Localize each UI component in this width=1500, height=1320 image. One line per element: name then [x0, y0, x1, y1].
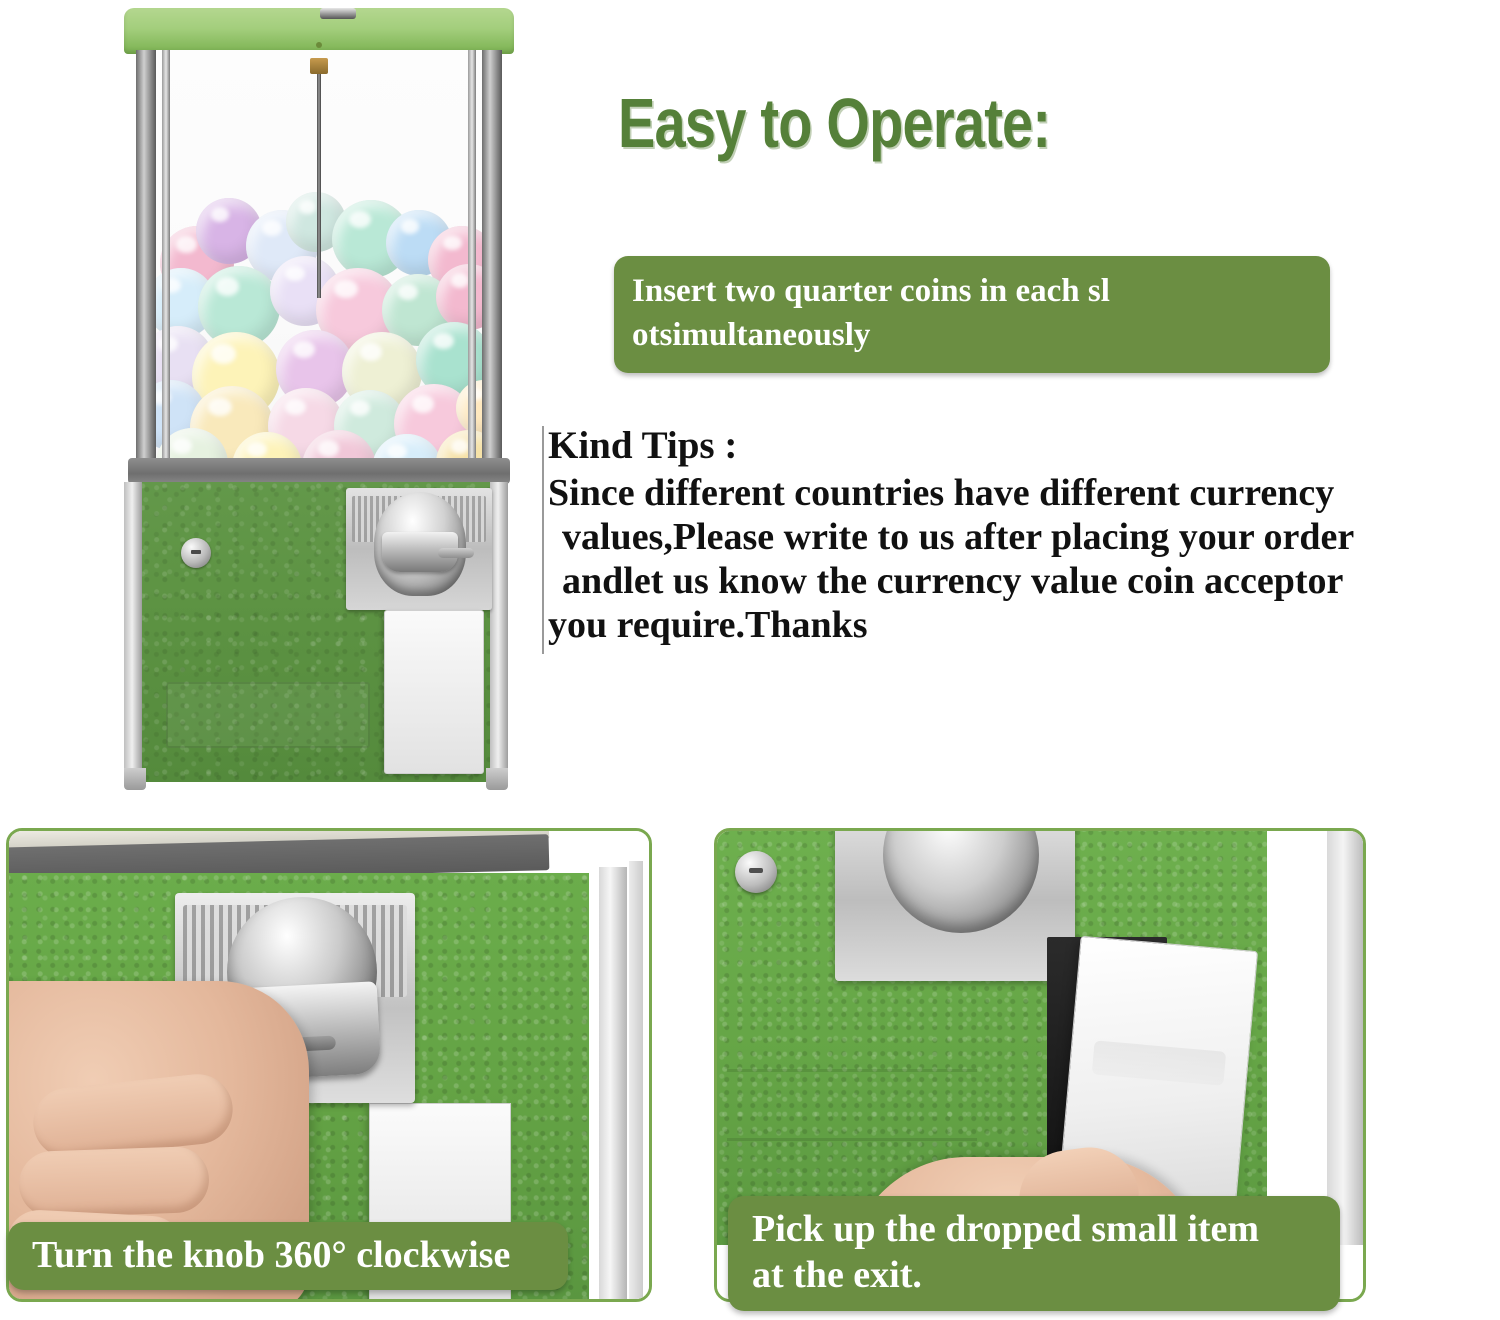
body-rail-left [124, 482, 142, 782]
kind-tips-body: Since different countries have different… [548, 471, 1498, 647]
callout-line-1: Insert two quarter coins in each sl [632, 270, 1312, 314]
knob-notch-icon [438, 548, 474, 558]
infographic-page: Easy to Operate: Insert two quarter coin… [0, 0, 1500, 1320]
rod-cap-icon [310, 58, 328, 74]
machine-foot-left [124, 768, 146, 790]
kind-tips-heading: Kind Tips : [548, 424, 1498, 469]
lock-icon [181, 538, 211, 568]
globe-center-rod [317, 60, 321, 298]
body-panel-seam [727, 1069, 977, 1141]
tips-line-4: you require.Thanks [548, 603, 1498, 647]
body-rail-right [1327, 831, 1363, 1245]
body-rail-outer [629, 861, 643, 1299]
body-rail-right [599, 867, 627, 1299]
caption-turn-knob: Turn the knob 360° clockwise [8, 1222, 568, 1290]
globe-corner-post-left [136, 50, 156, 462]
coin-knob-handle [382, 532, 458, 572]
body-rail-right [490, 482, 508, 782]
coin-mechanism-plate [346, 488, 492, 610]
machine-shelf [128, 458, 510, 484]
globe-inner-post-left [162, 50, 170, 462]
kind-tips-block: Kind Tips : Since different countries ha… [548, 424, 1498, 647]
lid-lock-handle-icon [320, 8, 356, 19]
page-title: Easy to Operate: [618, 88, 1050, 158]
globe-corner-post-right [482, 50, 502, 462]
caption-text: Pick up the dropped small item at the ex… [752, 1206, 1316, 1299]
caption-pick-item: Pick up the dropped small item at the ex… [728, 1196, 1340, 1311]
callout-line-2: otsimultaneously [632, 314, 1312, 358]
capsule-globe [136, 50, 502, 462]
product-image-gumball-machine [106, 2, 526, 792]
finger [18, 1146, 210, 1219]
tips-line-2: values,Please write to us after placing … [548, 515, 1498, 559]
machine-foot-right [486, 768, 508, 790]
tips-line-3: andlet us know the currency value coin a… [548, 559, 1498, 603]
coin-knob-dome [883, 831, 1039, 933]
lock-icon [735, 851, 777, 893]
globe-inner-post-right [468, 50, 476, 462]
tips-line-1: Since different countries have different… [548, 471, 1498, 515]
exit-flap-door [384, 610, 484, 774]
coin-mechanism-plate [835, 831, 1075, 981]
caption-text: Turn the knob 360° clockwise [32, 1232, 544, 1278]
instruction-callout: Insert two quarter coins in each sl otsi… [614, 256, 1330, 373]
body-panel-seam [166, 682, 370, 748]
lid-screw-icon [316, 42, 322, 48]
